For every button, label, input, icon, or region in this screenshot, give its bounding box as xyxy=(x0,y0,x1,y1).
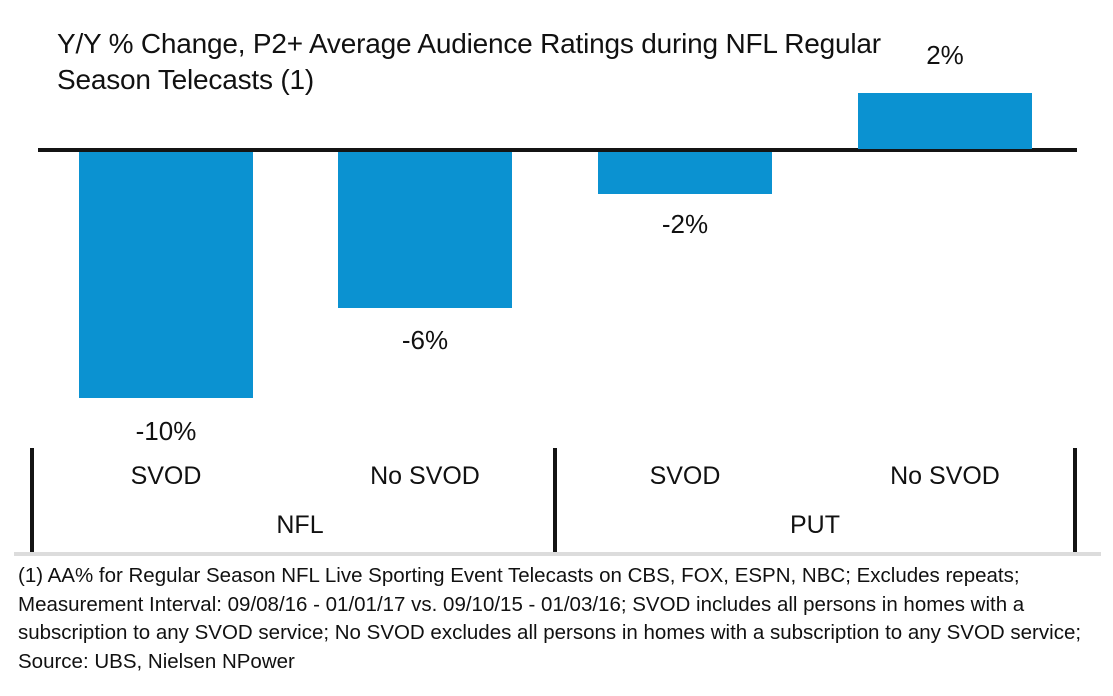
category-label-put-no-svod: No SVOD xyxy=(858,461,1032,491)
chart-container: Y/Y % Change, P2+ Average Audience Ratin… xyxy=(0,0,1113,696)
bar-label-put-svod: -2% xyxy=(598,209,772,239)
bar-label-nfl-no-svod: -6% xyxy=(338,325,512,355)
bar-nfl-no-svod[interactable] xyxy=(338,152,512,308)
bar-put-no-svod[interactable] xyxy=(858,93,1032,149)
axis-divider-middle xyxy=(553,448,557,552)
footnote-divider xyxy=(14,552,1101,556)
plot-area: -10% -6% -2% 2% SVOD No SVOD SVOD No SVO… xyxy=(0,0,1113,553)
axis-divider-right xyxy=(1073,448,1077,552)
footnote-text: (1) AA% for Regular Season NFL Live Spor… xyxy=(18,562,1096,676)
category-label-put-svod: SVOD xyxy=(598,461,772,491)
group-label-put: PUT xyxy=(728,510,902,540)
category-label-nfl-svod: SVOD xyxy=(79,461,253,491)
bar-label-put-no-svod: 2% xyxy=(858,40,1032,70)
group-label-nfl: NFL xyxy=(213,510,387,540)
bar-put-svod[interactable] xyxy=(598,152,772,194)
bar-nfl-svod[interactable] xyxy=(79,152,253,398)
axis-divider-left xyxy=(30,448,34,552)
category-label-nfl-no-svod: No SVOD xyxy=(338,461,512,491)
bar-label-nfl-svod: -10% xyxy=(79,416,253,446)
